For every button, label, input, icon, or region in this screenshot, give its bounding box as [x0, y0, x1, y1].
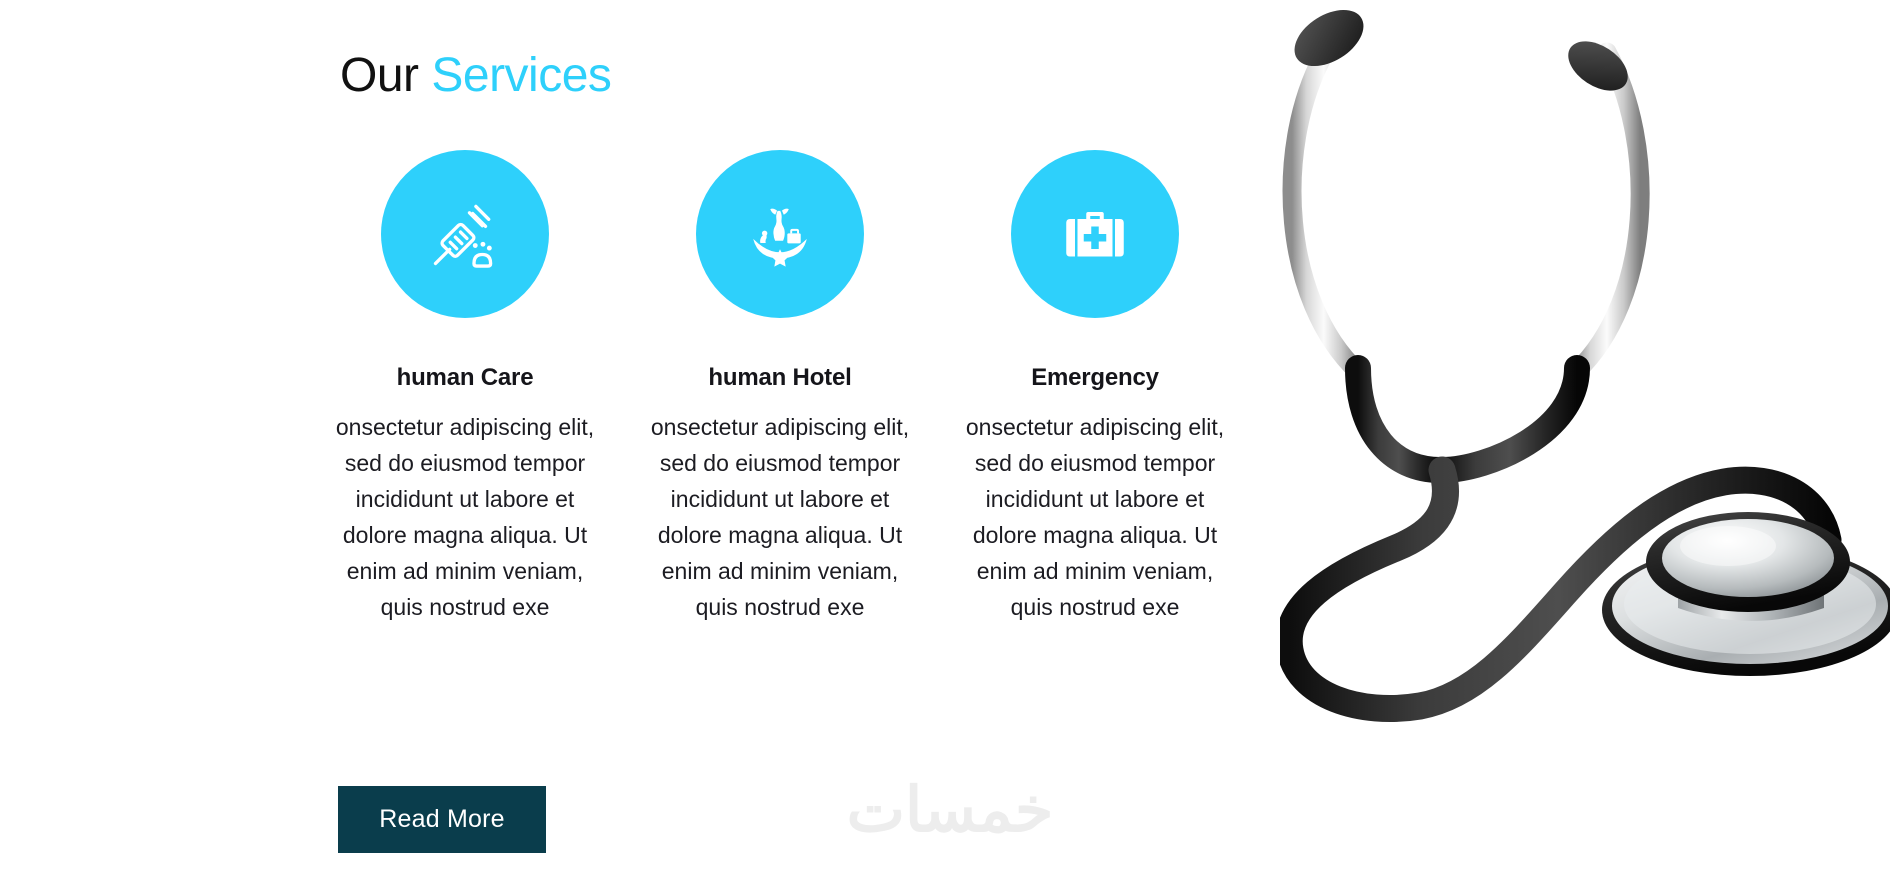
- stethoscope-illustration: [1280, 0, 1890, 740]
- syringe-paw-icon: [424, 193, 506, 275]
- service-title: Emergency: [1031, 364, 1159, 393]
- service-card-human-hotel[interactable]: human Hotel onsectetur adipiscing elit, …: [645, 150, 915, 648]
- services-grid: human Care onsectetur adipiscing elit, s…: [330, 150, 1230, 648]
- service-description: onsectetur adipiscing elit, sed do eiusm…: [334, 409, 596, 625]
- service-card-human-care[interactable]: human Care onsectetur adipiscing elit, s…: [330, 150, 600, 648]
- read-more-button[interactable]: Read More: [338, 786, 546, 853]
- service-icon-badge: [696, 150, 864, 318]
- service-title: human Hotel: [708, 364, 851, 393]
- service-description: onsectetur adipiscing elit, sed do eiusm…: [964, 409, 1226, 625]
- first-aid-kit-icon: [1055, 194, 1135, 274]
- service-card-emergency[interactable]: Emergency onsectetur adipiscing elit, se…: [960, 150, 1230, 648]
- page-title-word-our: Our: [340, 49, 419, 102]
- service-title: human Care: [397, 364, 534, 393]
- watermark-khamsat: خمسات: [820, 780, 1080, 842]
- pet-hotel-icon: [741, 195, 819, 273]
- page-title-word-services: Services: [431, 49, 611, 102]
- service-description: onsectetur adipiscing elit, sed do eiusm…: [649, 409, 911, 625]
- service-icon-badge: [381, 150, 549, 318]
- service-icon-badge: [1011, 150, 1179, 318]
- services-section: Our Services: [0, 0, 1890, 873]
- page-title: Our Services: [340, 50, 611, 103]
